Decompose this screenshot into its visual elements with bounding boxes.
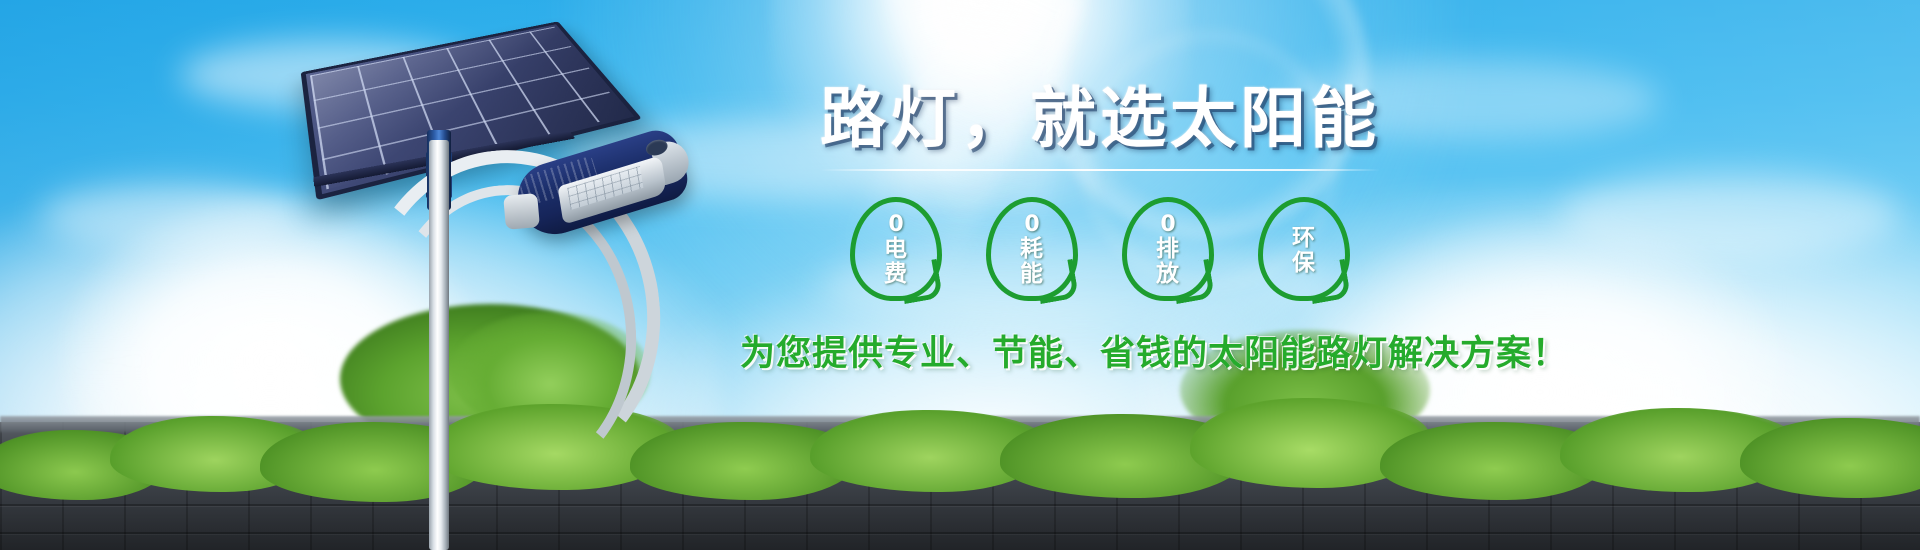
badge-label-line1: 耗 [1020, 236, 1044, 262]
badge-zero-value: 0 [1024, 214, 1039, 236]
wall-shadow [0, 480, 1920, 550]
badge-label-line1: 环 [1292, 225, 1316, 251]
badge-label-line2: 费 [884, 261, 908, 287]
badge-zero-value: 0 [888, 214, 903, 236]
wall-coping [0, 416, 1920, 432]
badge-label: 电 费 [884, 237, 908, 286]
lamp-pole [429, 140, 449, 550]
brick-wall [0, 422, 1920, 550]
badge-label-line2: 能 [1020, 261, 1044, 287]
headline-divider [820, 169, 1380, 171]
marketing-copy-block: 路灯，就选太阳能 0 电 费 0 耗 能 0 [740, 84, 1460, 376]
badge-label-line2: 保 [1292, 250, 1316, 276]
feature-badge-0dianfei[interactable]: 0 电 费 [841, 195, 951, 305]
solar-street-lamp [300, 0, 720, 550]
cloud-wisp [40, 180, 300, 250]
solar-street-lamp-hero-banner: 路灯，就选太阳能 0 电 费 0 耗 能 0 [0, 0, 1920, 550]
feature-badge-0haoneng[interactable]: 0 耗 能 [977, 195, 1087, 305]
badge-label-line1: 电 [884, 236, 908, 262]
badge-label-line1: 排 [1156, 236, 1180, 262]
feature-badge-huanbao[interactable]: 环 保 [1249, 195, 1359, 305]
badge-label: 耗 能 [1020, 237, 1044, 286]
cloud-wisp [1560, 170, 1900, 260]
badge-label-line2: 放 [1156, 261, 1180, 287]
page-title: 路灯，就选太阳能 [740, 84, 1460, 153]
badge-label: 排 放 [1156, 237, 1180, 286]
badge-label: 环 保 [1292, 226, 1316, 275]
badge-zero-value: 0 [1160, 214, 1175, 236]
lamp-head-joint [503, 193, 540, 230]
feature-badge-0paifang[interactable]: 0 排 放 [1113, 195, 1223, 305]
marketing-subtitle: 为您提供专业、节能、省钱的太阳能路灯解决方案！ [740, 325, 1460, 376]
feature-badge-list: 0 电 费 0 耗 能 0 排 放 [740, 195, 1460, 305]
